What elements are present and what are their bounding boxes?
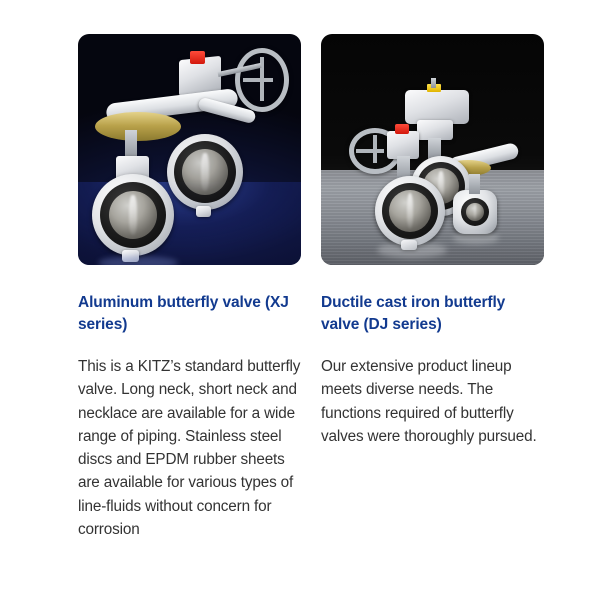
product-card-dj: Ductile cast iron butterfly valve (DJ se… bbox=[321, 34, 544, 541]
product-card-grid: Aluminum butterfly valve (XJ series) Thi… bbox=[78, 34, 543, 541]
aluminum-butterfly-valve-photo[interactable] bbox=[78, 34, 301, 265]
handwheel-icon bbox=[235, 48, 289, 112]
actuator-stem bbox=[431, 78, 436, 88]
valve-body-rear bbox=[167, 134, 243, 210]
pneumatic-actuator bbox=[405, 90, 469, 124]
worm-gear-housing bbox=[387, 131, 419, 159]
ductile-cast-iron-butterfly-valve-photo[interactable] bbox=[321, 34, 544, 265]
actuator-base bbox=[417, 120, 453, 140]
product-title-dj: Ductile cast iron butterfly valve (DJ se… bbox=[321, 292, 544, 336]
valve-bottom-lug-rear bbox=[196, 206, 211, 217]
product-card-xj: Aluminum butterfly valve (XJ series) Thi… bbox=[78, 34, 301, 541]
floor-highlight bbox=[98, 256, 178, 265]
product-title-xj: Aluminum butterfly valve (XJ series) bbox=[78, 292, 301, 336]
floor-reflection-small bbox=[453, 232, 499, 244]
valve-body-front bbox=[92, 174, 174, 256]
valve-body-small-lugged bbox=[453, 190, 497, 234]
valve-body-front bbox=[375, 176, 445, 246]
brass-mounting-plate bbox=[95, 112, 181, 141]
product-description-xj: This is a KITZ’s standard butterfly valv… bbox=[78, 355, 301, 541]
valve-stem-small bbox=[469, 174, 480, 194]
red-indicator-cap bbox=[395, 124, 409, 134]
floor-reflection-front bbox=[377, 242, 447, 258]
product-description-dj: Our extensive product lineup meets diver… bbox=[321, 355, 544, 448]
product-listing-page: Aluminum butterfly valve (XJ series) Thi… bbox=[0, 0, 600, 600]
red-indicator-cap bbox=[190, 51, 205, 64]
